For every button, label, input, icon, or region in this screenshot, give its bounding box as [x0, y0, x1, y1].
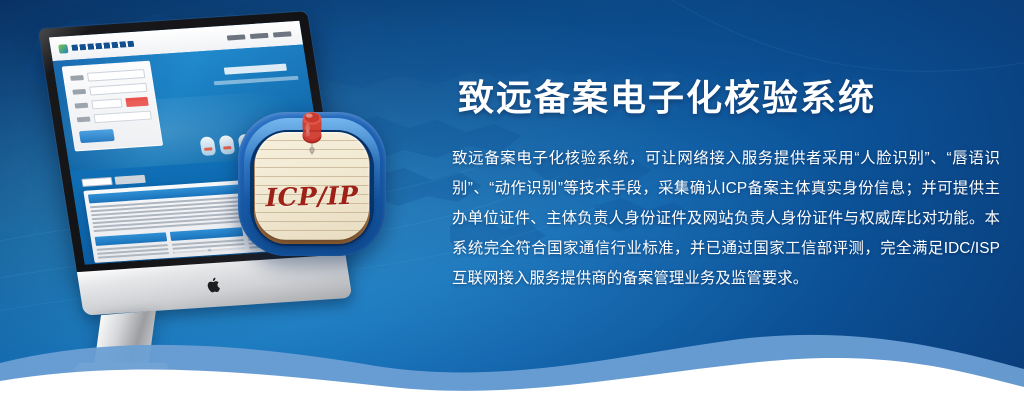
feature-icon[interactable] — [199, 136, 216, 156]
tab-item[interactable] — [81, 177, 112, 187]
username-input[interactable] — [87, 69, 146, 82]
username-row[interactable] — [70, 69, 146, 83]
username-label — [70, 75, 84, 81]
extra-label — [77, 117, 91, 123]
password-label — [72, 89, 86, 95]
password-input[interactable] — [89, 83, 148, 96]
site-logo-text — [71, 41, 134, 51]
apple-logo-icon — [206, 276, 224, 295]
captcha-image[interactable] — [125, 97, 148, 107]
extra-row[interactable] — [76, 111, 152, 125]
captcha-row[interactable] — [74, 97, 150, 111]
banner-copy: 致远备案电子化核验系统 致远备案电子化核验系统，可让网络接入服务提供者采用“人脸… — [452, 78, 1000, 294]
captcha-input[interactable] — [91, 98, 122, 109]
nav-item[interactable] — [250, 32, 269, 38]
extra-input[interactable] — [93, 111, 152, 124]
password-row[interactable] — [72, 83, 148, 97]
badge-label: ICP/IP — [255, 181, 369, 213]
hero-banner: ICP/IP 致远备案电子化核验系统 致远备案电子化核验系统，可让网络接 — [0, 0, 1024, 405]
page-title: 致远备案电子化核验系统 — [458, 78, 1000, 118]
captcha-label — [75, 103, 89, 109]
login-button[interactable] — [79, 129, 115, 143]
nav-item[interactable] — [227, 34, 246, 40]
site-logo-icon — [58, 44, 68, 53]
icp-ip-badge: ICP/IP — [232, 108, 392, 260]
site-nav[interactable] — [227, 31, 294, 40]
page-description: 致远备案电子化核验系统，可让网络接入服务提供者采用“人脸识别”、“唇语识别”、“… — [452, 144, 1000, 294]
wave-divider-icon — [0, 315, 1024, 405]
hero-headline — [224, 64, 287, 75]
login-form[interactable] — [62, 61, 164, 152]
hero-subline — [214, 76, 299, 86]
pushpin-icon — [297, 102, 327, 158]
nav-item[interactable] — [273, 31, 292, 37]
tab-item[interactable] — [114, 175, 145, 185]
